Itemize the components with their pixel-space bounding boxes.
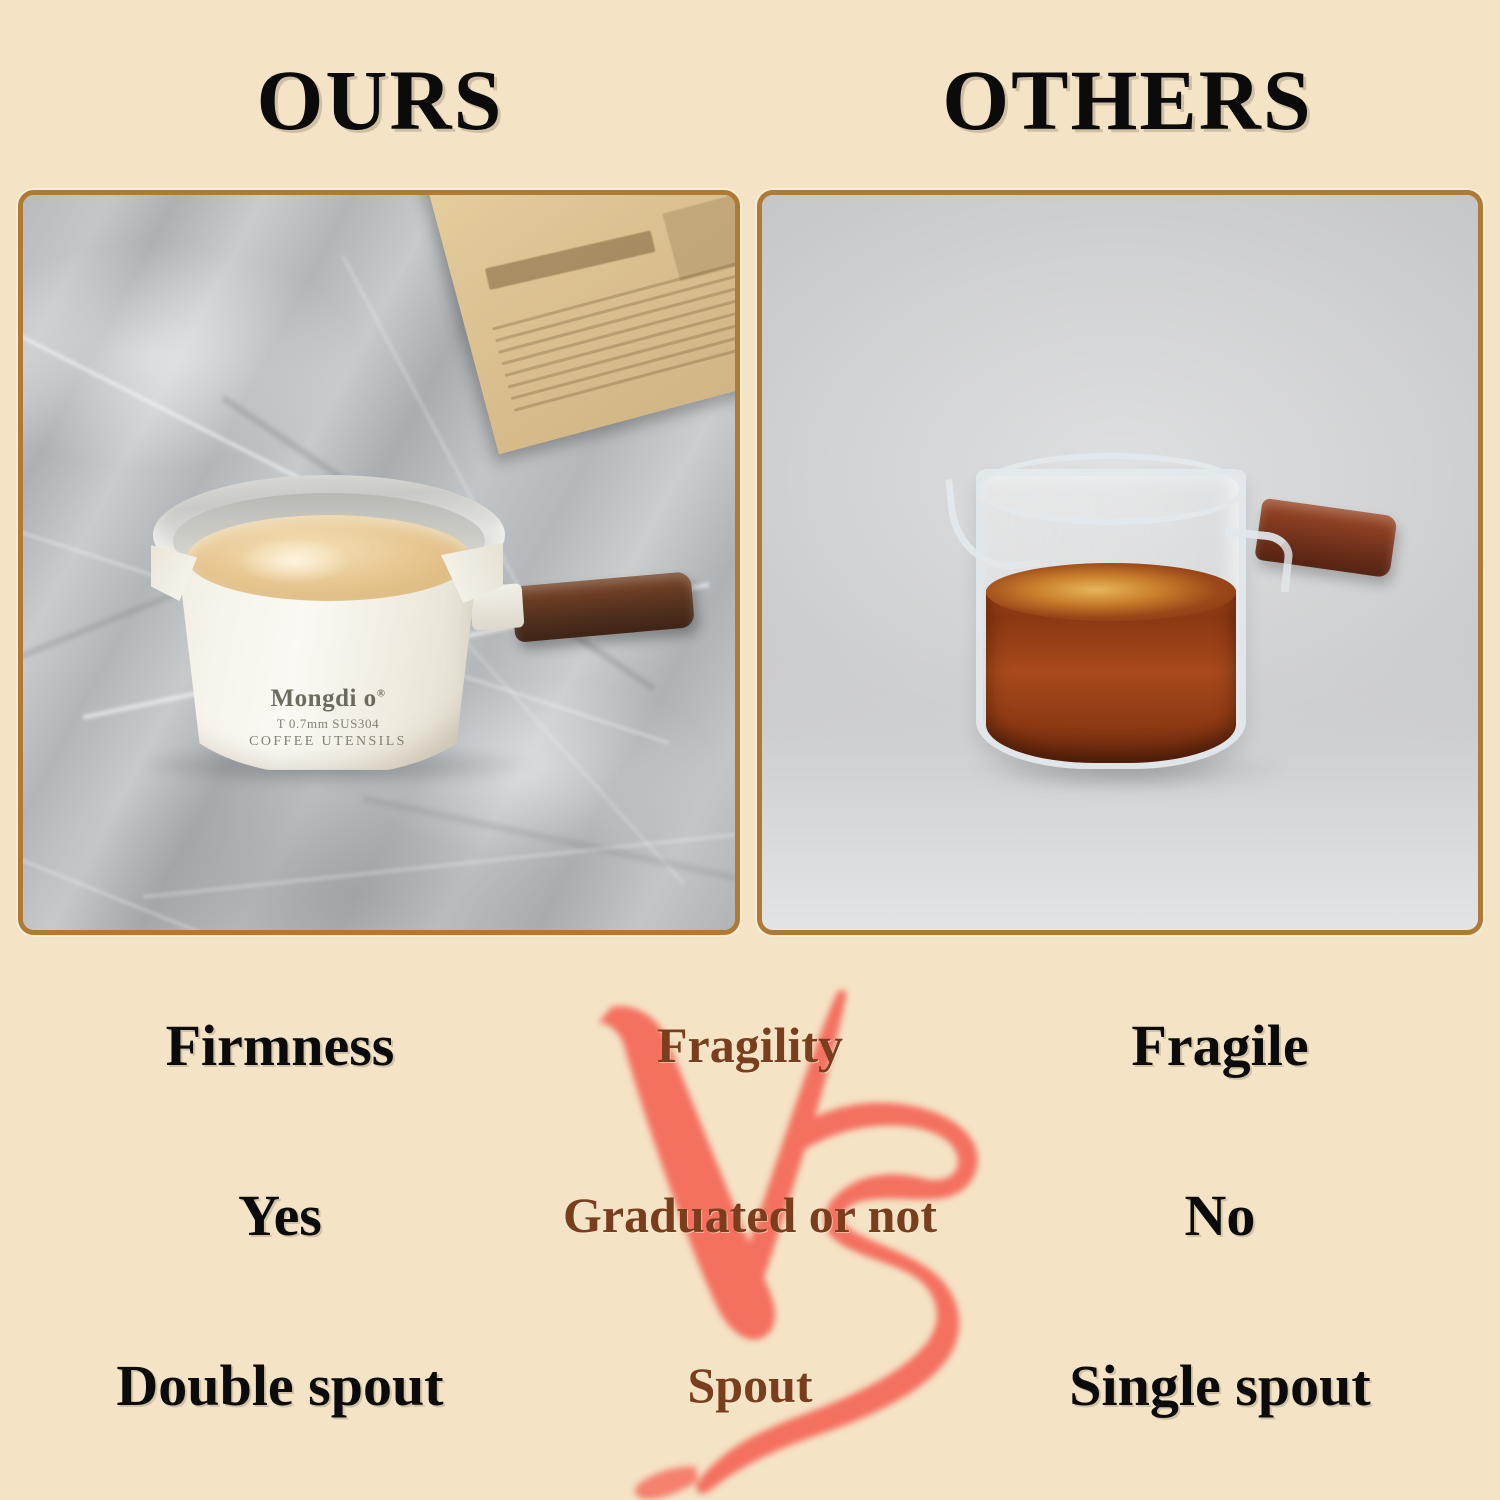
crema-highlight: [239, 539, 349, 583]
header-others: OTHERS: [755, 52, 1500, 148]
header-ours: OURS: [0, 52, 760, 148]
comparison-row: Firmness Fragility Fragile: [0, 960, 1500, 1130]
paper-headline-block: [485, 230, 656, 290]
row-attribute-label: Spout: [0, 1356, 1500, 1414]
photo-inner-ours: Mongdi o® T 0.7mm SUS304 COFFEE UTENSILS: [23, 195, 735, 930]
headers-row: OURS OTHERS: [0, 0, 1500, 178]
cup-branding: Mongdi o® T 0.7mm SUS304 COFFEE UTENSILS: [163, 685, 493, 750]
row-attribute-label: Fragility: [0, 1016, 1500, 1074]
comparison-row: Yes Graduated or not No: [0, 1130, 1500, 1300]
cup-brand-text: Mongdi o: [271, 685, 377, 712]
row-attribute-label: Graduated or not: [0, 1186, 1500, 1244]
glass-single-spout: [945, 471, 1041, 575]
product-photo-others: [757, 190, 1483, 935]
photo-inner-others: [762, 195, 1478, 930]
cup-subtitle-text: COFFEE UTENSILS: [163, 734, 493, 750]
comparison-table: Firmness Fragility Fragile Yes Graduated…: [0, 960, 1500, 1470]
product-photo-ours: Mongdi o® T 0.7mm SUS304 COFFEE UTENSILS: [18, 190, 740, 935]
cup-spec-text: T 0.7mm SUS304: [163, 716, 493, 732]
coffee-surface: [986, 563, 1236, 621]
cup-brand-name: Mongdi o®: [163, 685, 493, 713]
comparison-row: Double spout Spout Single spout: [0, 1300, 1500, 1470]
stainless-cup-ours: Mongdi o® T 0.7mm SUS304 COFFEE UTENSILS: [141, 457, 561, 787]
glass-cup-others: [942, 435, 1382, 825]
registered-mark-icon: ®: [377, 688, 386, 700]
